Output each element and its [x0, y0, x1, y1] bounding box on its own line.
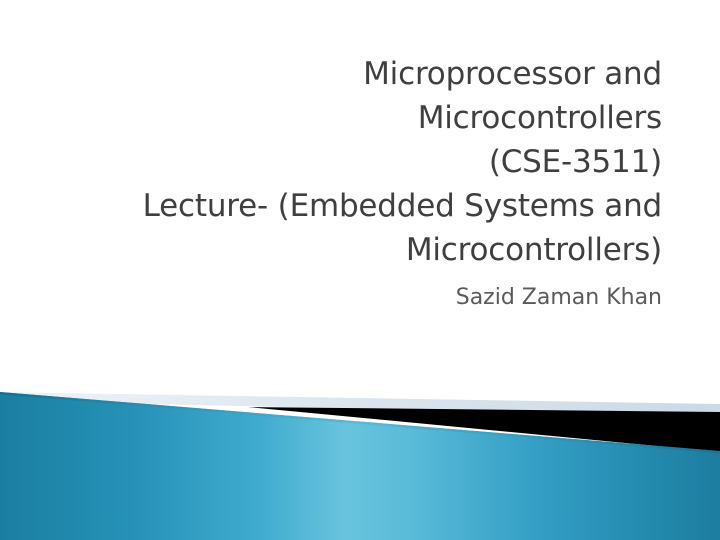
slide-subtitle-author: Sazid Zaman Khan [60, 283, 662, 313]
teal-wedge-rim [0, 392, 720, 454]
teal-wedge-shape [0, 392, 720, 540]
subtitle-container: Sazid Zaman Khan [60, 283, 662, 313]
pale-band-shape [0, 392, 720, 416]
teal-texture-overlay [0, 392, 720, 540]
slide-title: Microprocessor and Microcontrollers (CSE… [60, 52, 662, 272]
black-wedge-shape [248, 407, 720, 452]
title-slide: Microprocessor and Microcontrollers (CSE… [0, 0, 720, 540]
title-container: Microprocessor and Microcontrollers (CSE… [60, 52, 662, 272]
